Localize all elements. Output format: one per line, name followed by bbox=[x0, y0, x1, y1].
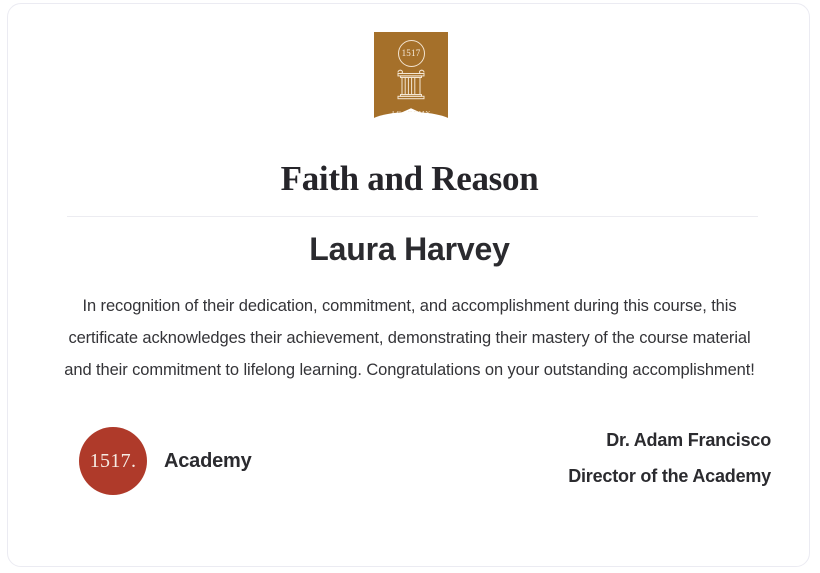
signature-block: Dr. Adam Francisco Director of the Acade… bbox=[568, 422, 771, 494]
divider bbox=[67, 216, 758, 217]
signatory-name: Dr. Adam Francisco bbox=[568, 422, 771, 458]
seal-label: Academy bbox=[164, 450, 252, 473]
logo-mark: 1517 ACADEMY bbox=[374, 40, 448, 117]
signatory-role: Director of the Academy bbox=[568, 458, 771, 494]
academy-seal-group: 1517. Academy bbox=[79, 427, 252, 495]
certificate-card: 1517 ACADEMY Fa bbox=[7, 3, 810, 567]
course-title: Faith and Reason bbox=[8, 159, 810, 199]
certificate-body-text: In recognition of their dedication, comm… bbox=[64, 290, 755, 386]
column-icon bbox=[391, 68, 431, 102]
logo-year-label: 1517 bbox=[402, 49, 421, 58]
banner-notch-shape bbox=[367, 112, 455, 138]
logo-circle-icon: 1517 bbox=[398, 40, 425, 67]
seal-year-label: 1517. bbox=[90, 450, 137, 473]
recipient-name: Laura Harvey bbox=[8, 231, 810, 268]
certificate-footer: 1517. Academy Dr. Adam Francisco Directo… bbox=[8, 422, 810, 512]
seal-icon: 1517. bbox=[79, 427, 147, 495]
academy-logo: 1517 ACADEMY bbox=[374, 32, 448, 125]
